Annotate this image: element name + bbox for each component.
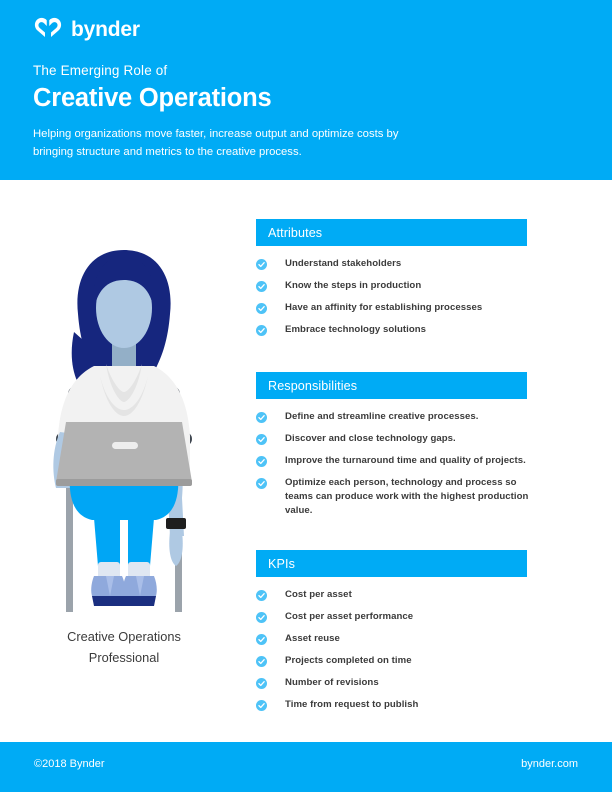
list-item[interactable]: Discover and close technology gaps.	[256, 432, 556, 446]
check-circle-icon	[256, 259, 267, 270]
section-spacer	[256, 345, 556, 372]
caption-line-2: Professional	[34, 647, 214, 668]
list-item-label: Know the steps in production	[285, 279, 421, 293]
list-item[interactable]: Time from request to publish	[256, 698, 556, 712]
section-title: Attributes	[268, 226, 322, 240]
list-item-label: Time from request to publish	[285, 698, 418, 712]
website-link[interactable]: bynder.com	[521, 758, 578, 770]
list-item-label: Optimize each person, technology and pro…	[285, 476, 540, 518]
header-subhead: Helping organizations move faster, incre…	[33, 125, 413, 161]
section-header-attributes: Attributes	[256, 219, 527, 246]
list-item[interactable]: Embrace technology solutions	[256, 323, 556, 337]
section-header-responsibilities: Responsibilities	[256, 372, 527, 399]
list-item-label: Cost per asset performance	[285, 610, 413, 624]
section-spacer	[256, 526, 556, 550]
copyright-text: ©2018 Bynder	[34, 758, 105, 770]
list-item-label: Discover and close technology gaps.	[285, 432, 456, 446]
page-title: Creative Operations	[33, 84, 272, 113]
check-circle-icon	[256, 281, 267, 292]
check-circle-icon	[256, 678, 267, 689]
check-circle-icon	[256, 612, 267, 623]
list-item[interactable]: Optimize each person, technology and pro…	[256, 476, 556, 518]
list-item-label: Embrace technology solutions	[285, 323, 426, 337]
list-item[interactable]: Know the steps in production	[256, 279, 556, 293]
header-eyebrow: The Emerging Role of	[33, 63, 167, 78]
list-item-label: Understand stakeholders	[285, 257, 401, 271]
illustration-caption: Creative Operations Professional	[34, 626, 214, 668]
brand-wordmark: bynder	[71, 19, 140, 40]
check-circle-icon	[256, 325, 267, 336]
check-circle-icon	[256, 634, 267, 645]
list-item[interactable]: Number of revisions	[256, 676, 556, 690]
section-title: Responsibilities	[268, 379, 357, 393]
page-header: bynder The Emerging Role of Creative Ope…	[0, 0, 612, 180]
check-circle-icon	[256, 700, 267, 711]
content-sections: Attributes Understand stakeholders Know …	[256, 219, 556, 720]
section-title: KPIs	[268, 557, 295, 571]
list-item-label: Define and streamline creative processes…	[285, 410, 478, 424]
brand-logo[interactable]: bynder	[33, 16, 140, 42]
list-item[interactable]: Improve the turnaround time and quality …	[256, 454, 556, 468]
attributes-list: Understand stakeholders Know the steps i…	[256, 246, 556, 337]
section-header-kpis: KPIs	[256, 550, 527, 577]
caption-line-1: Creative Operations	[34, 626, 214, 647]
list-item[interactable]: Asset reuse	[256, 632, 556, 646]
list-item[interactable]: Understand stakeholders	[256, 257, 556, 271]
list-item-label: Asset reuse	[285, 632, 340, 646]
check-circle-icon	[256, 478, 267, 489]
list-item-label: Have an affinity for establishing proces…	[285, 301, 482, 315]
list-item[interactable]: Have an affinity for establishing proces…	[256, 301, 556, 315]
bynder-logo-icon	[33, 16, 63, 42]
list-item-label: Improve the turnaround time and quality …	[285, 454, 526, 468]
list-item-label: Projects completed on time	[285, 654, 412, 668]
section-attributes: Attributes Understand stakeholders Know …	[256, 219, 556, 337]
check-circle-icon	[256, 590, 267, 601]
page-footer: ©2018 Bynder bynder.com	[0, 742, 612, 792]
check-circle-icon	[256, 434, 267, 445]
check-circle-icon	[256, 303, 267, 314]
section-responsibilities: Responsibilities Define and streamline c…	[256, 372, 556, 518]
check-circle-icon	[256, 656, 267, 667]
check-circle-icon	[256, 412, 267, 423]
section-kpis: KPIs Cost per asset Cost per asset perfo…	[256, 550, 556, 712]
list-item[interactable]: Cost per asset performance	[256, 610, 556, 624]
kpis-list: Cost per asset Cost per asset performanc…	[256, 577, 556, 712]
list-item[interactable]: Define and streamline creative processes…	[256, 410, 556, 424]
list-item[interactable]: Projects completed on time	[256, 654, 556, 668]
check-circle-icon	[256, 456, 267, 467]
responsibilities-list: Define and streamline creative processes…	[256, 399, 556, 518]
list-item[interactable]: Cost per asset	[256, 588, 556, 602]
creative-operations-professional-illustration	[34, 236, 214, 616]
list-item-label: Cost per asset	[285, 588, 352, 602]
list-item-label: Number of revisions	[285, 676, 379, 690]
